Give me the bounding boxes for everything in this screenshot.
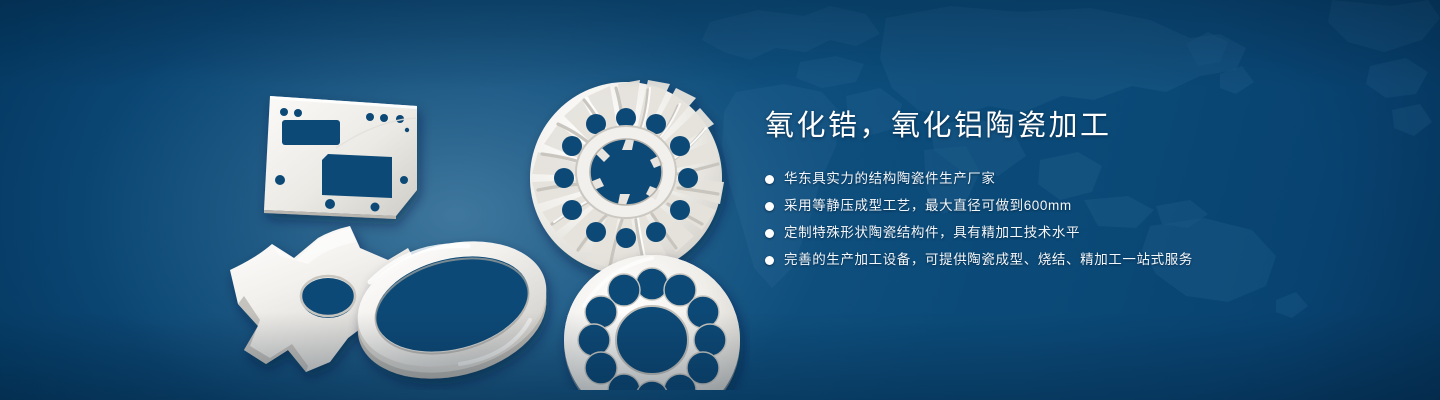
bullet-dot-icon <box>765 202 774 211</box>
list-item: 采用等静压成型工艺，最大直径可做到600mm <box>765 195 1385 217</box>
list-item: 定制特殊形状陶瓷结构件，具有精加工技术水平 <box>765 222 1385 244</box>
banner-copy: 氧化锆，氧化铝陶瓷加工 华东具实力的结构陶瓷件生产厂家 采用等静压成型工艺，最大… <box>765 106 1385 276</box>
list-item: 完善的生产加工设备，可提供陶瓷成型、烧结、精加工一站式服务 <box>765 249 1385 271</box>
promo-banner: 氧化锆，氧化铝陶瓷加工 华东具实力的结构陶瓷件生产厂家 采用等静压成型工艺，最大… <box>0 0 1440 400</box>
bullet-dot-icon <box>765 175 774 184</box>
bullet-dot-icon <box>765 229 774 238</box>
bullet-dot-icon <box>765 256 774 265</box>
list-item-label: 采用等静压成型工艺，最大直径可做到600mm <box>784 195 1072 217</box>
list-item-label: 定制特殊形状陶瓷结构件，具有精加工技术水平 <box>784 222 1080 244</box>
list-item: 华东具实力的结构陶瓷件生产厂家 <box>765 168 1385 190</box>
page-title: 氧化锆，氧化铝陶瓷加工 <box>765 106 1385 146</box>
list-item-label: 完善的生产加工设备，可提供陶瓷成型、烧结、精加工一站式服务 <box>784 249 1193 271</box>
feature-list: 华东具实力的结构陶瓷件生产厂家 采用等静压成型工艺，最大直径可做到600mm 定… <box>765 168 1385 271</box>
list-item-label: 华东具实力的结构陶瓷件生产厂家 <box>784 168 996 190</box>
